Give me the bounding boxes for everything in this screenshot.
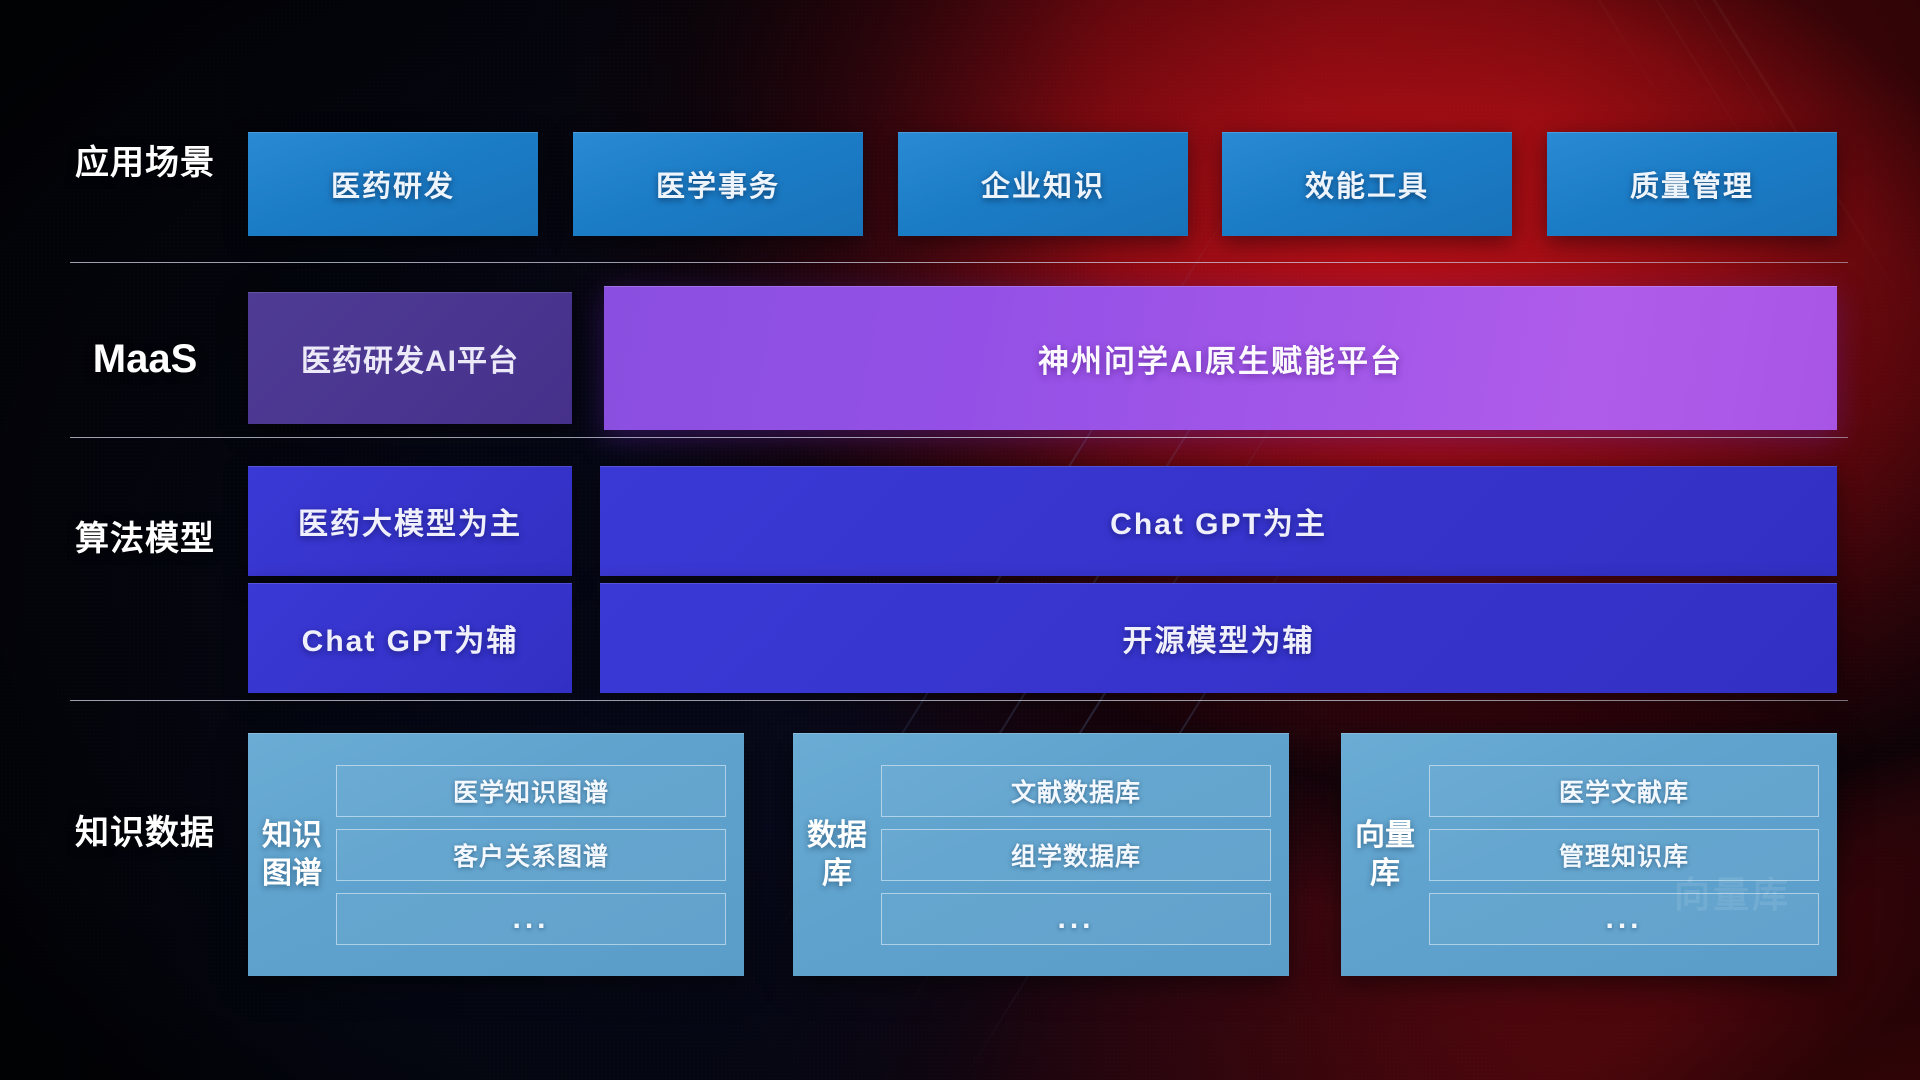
knowledge-item-2-3[interactable]: ... — [881, 893, 1271, 945]
knowledge-item-label-1-3: ... — [512, 902, 549, 936]
knowledge-panel-title-1: 知识图谱 — [262, 817, 322, 893]
algorithm-card-left-secondary[interactable]: Chat GPT为辅 — [248, 583, 572, 693]
knowledge-item-label-3-2: 管理知识库 — [1559, 837, 1689, 873]
algorithm-label-right-secondary: 开源模型为辅 — [1123, 616, 1315, 660]
knowledge-item-1-1[interactable]: 医学知识图谱 — [336, 765, 726, 817]
knowledge-item-1-2[interactable]: 客户关系图谱 — [336, 829, 726, 881]
row-label-algorithm-model: 算法模型 — [70, 518, 220, 560]
algorithm-card-right-primary[interactable]: Chat GPT为主 — [600, 466, 1837, 576]
knowledge-item-label-3-3: ... — [1605, 902, 1642, 936]
app-scenario-card-3[interactable]: 企业知识 — [898, 132, 1188, 236]
knowledge-item-1-3[interactable]: ... — [336, 893, 726, 945]
app-scenario-card-1[interactable]: 医药研发 — [248, 132, 538, 236]
maas-platform-card-right[interactable]: 神州问学AI原生赋能平台 — [604, 286, 1837, 430]
maas-platform-label-left: 医药研发AI平台 — [301, 336, 519, 380]
architecture-diagram: 应用场景 医药研发 医学事务 企业知识 效能工具 质量管理 MaaS 医药研发A… — [0, 0, 1920, 1080]
divider-3 — [70, 700, 1848, 701]
knowledge-item-label-3-1: 医学文献库 — [1559, 773, 1689, 809]
algorithm-label-left-primary: 医药大模型为主 — [298, 499, 522, 543]
knowledge-panel-2[interactable]: 数据库 文献数据库 组学数据库 ... — [793, 733, 1289, 976]
algorithm-card-right-secondary[interactable]: 开源模型为辅 — [600, 583, 1837, 693]
divider-2 — [70, 437, 1848, 438]
knowledge-panel-title-3: 向量库 — [1355, 817, 1415, 893]
app-scenario-label-5: 质量管理 — [1630, 163, 1754, 205]
app-scenario-label-2: 医学事务 — [656, 163, 780, 205]
app-scenario-card-4[interactable]: 效能工具 — [1222, 132, 1512, 236]
knowledge-item-label-1-2: 客户关系图谱 — [453, 837, 609, 873]
app-scenario-card-2[interactable]: 医学事务 — [573, 132, 863, 236]
maas-platform-label-right: 神州问学AI原生赋能平台 — [1038, 336, 1403, 381]
app-scenario-label-3: 企业知识 — [981, 163, 1105, 205]
divider-1 — [70, 262, 1848, 263]
knowledge-item-3-1[interactable]: 医学文献库 — [1429, 765, 1819, 817]
algorithm-card-left-primary[interactable]: 医药大模型为主 — [248, 466, 572, 576]
knowledge-item-label-2-3: ... — [1057, 902, 1094, 936]
app-scenario-card-5[interactable]: 质量管理 — [1547, 132, 1837, 236]
app-scenario-label-4: 效能工具 — [1305, 163, 1429, 205]
row-label-app-scenarios: 应用场景 — [70, 142, 220, 184]
algorithm-label-left-secondary: Chat GPT为辅 — [302, 616, 519, 660]
knowledge-panel-1[interactable]: 知识图谱 医学知识图谱 客户关系图谱 ... — [248, 733, 744, 976]
maas-platform-card-left[interactable]: 医药研发AI平台 — [248, 292, 572, 424]
algorithm-label-right-primary: Chat GPT为主 — [1110, 499, 1327, 543]
knowledge-panel-title-2: 数据库 — [807, 817, 867, 893]
row-label-knowledge-data: 知识数据 — [70, 812, 220, 854]
knowledge-item-2-1[interactable]: 文献数据库 — [881, 765, 1271, 817]
knowledge-item-3-2[interactable]: 管理知识库 — [1429, 829, 1819, 881]
knowledge-item-label-2-2: 组学数据库 — [1011, 837, 1141, 873]
knowledge-panel-3[interactable]: 向量库 医学文献库 管理知识库 ... 向量库 — [1341, 733, 1837, 976]
knowledge-item-3-3[interactable]: ... — [1429, 893, 1819, 945]
knowledge-item-2-2[interactable]: 组学数据库 — [881, 829, 1271, 881]
knowledge-item-label-1-1: 医学知识图谱 — [453, 773, 609, 809]
knowledge-item-label-2-1: 文献数据库 — [1011, 773, 1141, 809]
app-scenario-label-1: 医药研发 — [331, 163, 455, 205]
row-label-maas: MaaS — [70, 338, 220, 380]
